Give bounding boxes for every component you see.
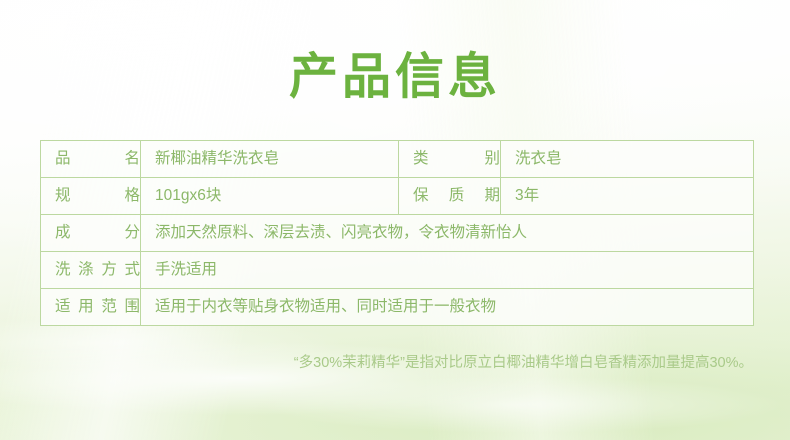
row-label-ingredients: 成 分 [41,215,141,252]
table-row: 洗涤方式 手洗适用 [41,252,754,289]
table-row: 适用范围 适用于内衣等贴身衣物适用、同时适用于一般衣物 [41,289,754,326]
table-row: 成 分 添加天然原料、深层去渍、闪亮衣物，令衣物清新怡人 [41,215,754,252]
table-row: 品 名 新椰油精华洗衣皂 类 别 洗衣皂 [41,141,754,178]
row-label-shelf-life: 保 质 期 [399,178,501,215]
row-value-scope-of-use: 适用于内衣等贴身衣物适用、同时适用于一般衣物 [141,289,754,326]
page-title: 产品信息 [0,48,790,106]
row-value-product-name: 新椰油精华洗衣皂 [141,141,399,178]
footnote-disclaimer: “多30%茉莉精华”是指对比原立白椰油精华增白皂香精添加量提高30%。 [40,352,753,374]
row-label-wash-method: 洗涤方式 [41,252,141,289]
row-label-category: 类 别 [399,141,501,178]
row-label-product-name: 品 名 [41,141,141,178]
row-value-ingredients: 添加天然原料、深层去渍、闪亮衣物，令衣物清新怡人 [141,215,754,252]
product-info-table: 品 名 新椰油精华洗衣皂 类 别 洗衣皂 规 格 101gx6块 保 质 期 3… [40,140,754,326]
row-label-specification: 规 格 [41,178,141,215]
row-label-scope-of-use: 适用范围 [41,289,141,326]
row-value-wash-method: 手洗适用 [141,252,754,289]
table-row: 规 格 101gx6块 保 质 期 3年 [41,178,754,215]
product-info-page: 产品信息 品 名 新椰油精华洗衣皂 类 别 洗衣皂 规 格 101gx6块 保 … [0,0,790,440]
row-value-specification: 101gx6块 [141,178,399,215]
row-value-shelf-life: 3年 [501,178,754,215]
row-value-category: 洗衣皂 [501,141,754,178]
